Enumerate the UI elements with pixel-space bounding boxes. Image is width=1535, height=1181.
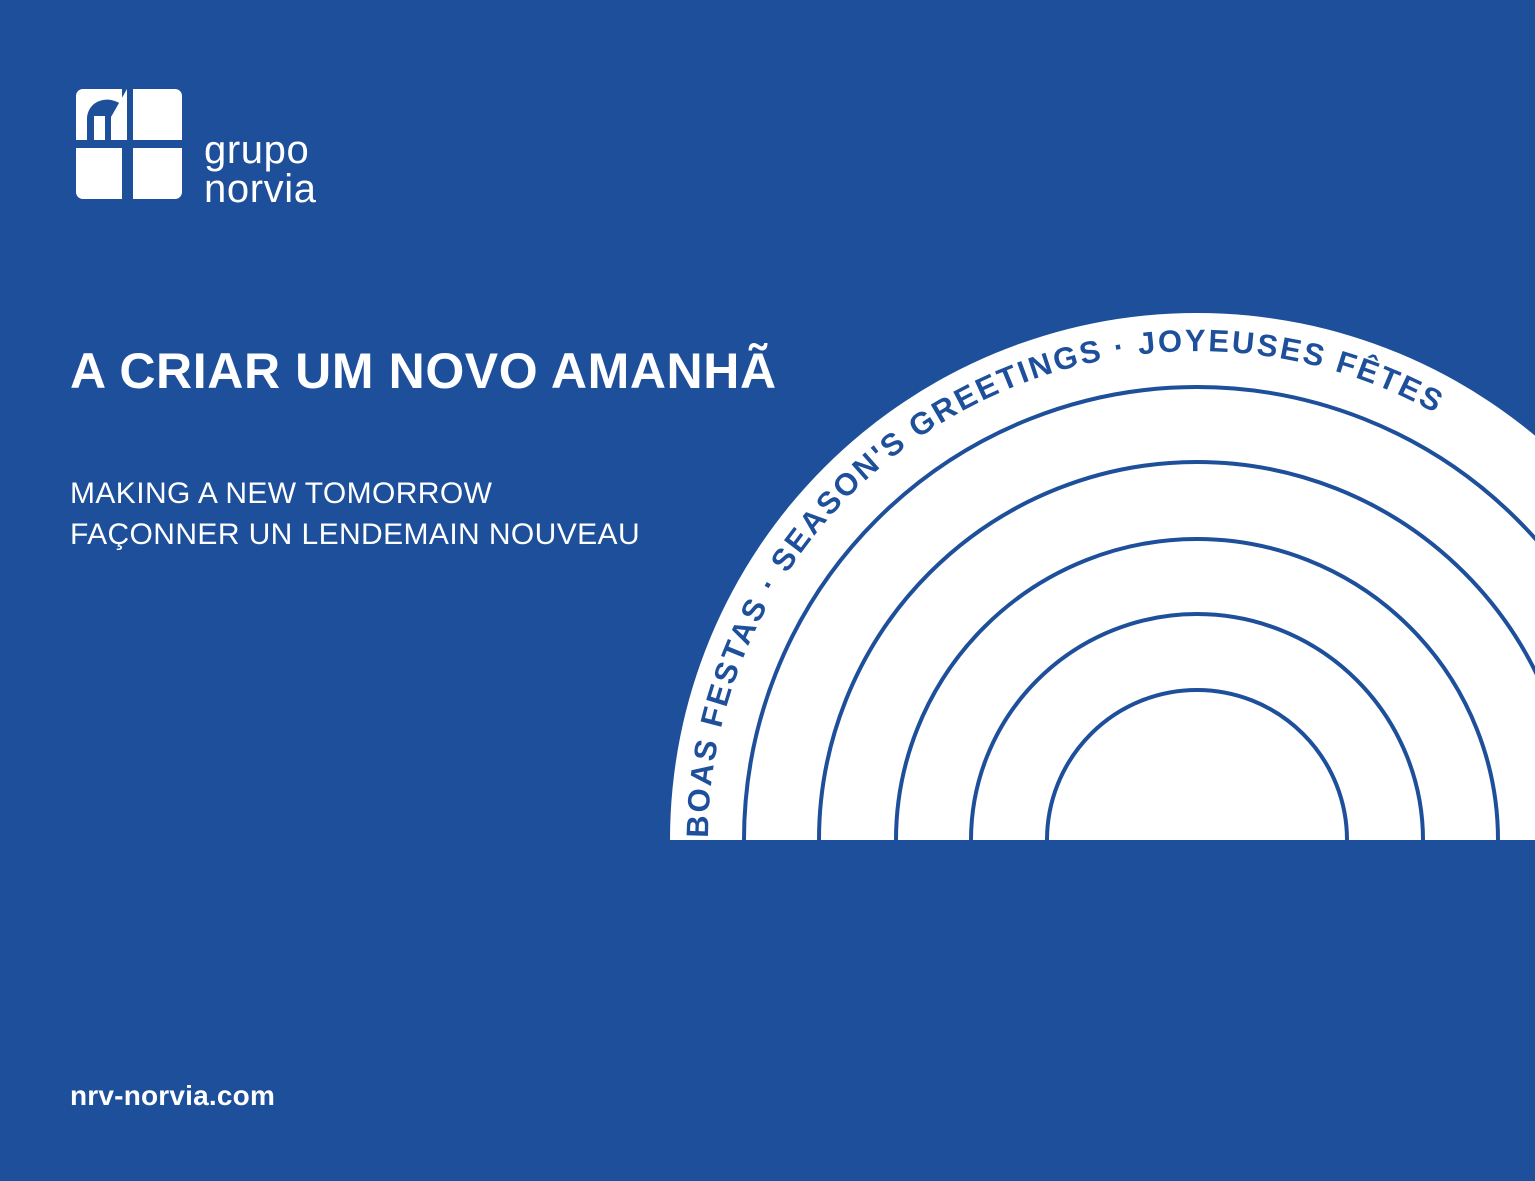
arch-greeting-text: BOAS FESTAS · SEASON'S GREETINGS · JOYEU…: [680, 323, 1451, 838]
greeting-card: BOAS FESTAS · SEASON'S GREETINGS · JOYEU…: [0, 0, 1535, 1181]
norvia-grid-logo-icon: [70, 85, 188, 203]
arch-ring-3: [896, 539, 1498, 840]
arch-ring-5: [1047, 690, 1347, 840]
arch-ring-4: [971, 614, 1423, 840]
arch-ring-1: [744, 387, 1535, 840]
arch-ring-2: [819, 462, 1535, 840]
wordmark-line-norvia: norvia: [204, 170, 317, 209]
headline-title: A CRIAR UM NOVO AMANHÃ: [70, 342, 777, 400]
brand-logo: grupo norvia: [70, 85, 317, 209]
subtitle-line-english: MAKING A NEW TOMORROW: [70, 473, 640, 514]
wordmark-line-grupo: grupo: [204, 131, 317, 170]
arch-outer-fill: [670, 313, 1535, 840]
brand-wordmark: grupo norvia: [204, 131, 317, 209]
subtitle-block: MAKING A NEW TOMORROW FAÇONNER UN LENDEM…: [70, 473, 640, 555]
footer-website-url[interactable]: nrv-norvia.com: [70, 1080, 275, 1112]
subtitle-line-french: FAÇONNER UN LENDEMAIN NOUVEAU: [70, 514, 640, 555]
arch-greeting-textpath: BOAS FESTAS · SEASON'S GREETINGS · JOYEU…: [680, 323, 1451, 838]
